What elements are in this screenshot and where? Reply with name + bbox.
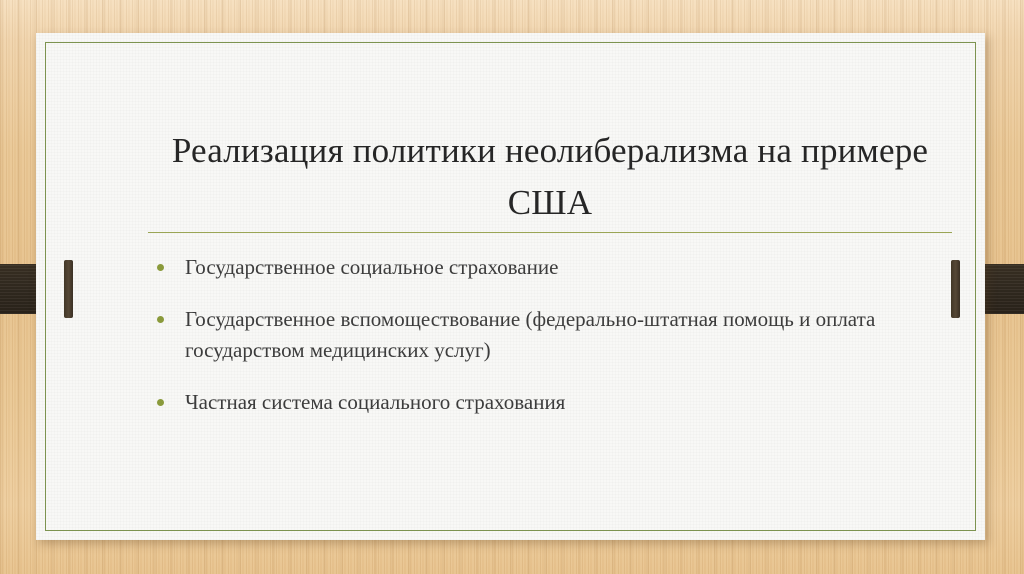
title-divider <box>148 232 952 233</box>
slide-card: Реализация политики неолиберализма на пр… <box>36 33 985 540</box>
slide-content: Реализация политики неолиберализма на пр… <box>36 33 985 540</box>
bullet-dot-icon <box>157 399 164 406</box>
list-item: Государственное вспомоществование (федер… <box>148 304 960 366</box>
list-item-label: Государственное социальное страхование <box>185 255 558 279</box>
list-item: Частная система социального страхования <box>148 387 960 418</box>
slide-canvas: Реализация политики неолиберализма на пр… <box>0 0 1024 574</box>
list-item-label: Частная система социального страхования <box>185 390 565 414</box>
list-item: Государственное социальное страхование <box>148 252 960 283</box>
bullet-dot-icon <box>157 264 164 271</box>
ribbon-cap-left <box>64 260 73 318</box>
list-item-label: Государственное вспомоществование (федер… <box>185 307 875 362</box>
ribbon-cap-right <box>951 260 960 318</box>
page-title: Реализация политики неолиберализма на пр… <box>148 125 952 229</box>
bullet-dot-icon <box>157 316 164 323</box>
bullet-list: Государственное социальное страхование Г… <box>148 252 960 439</box>
